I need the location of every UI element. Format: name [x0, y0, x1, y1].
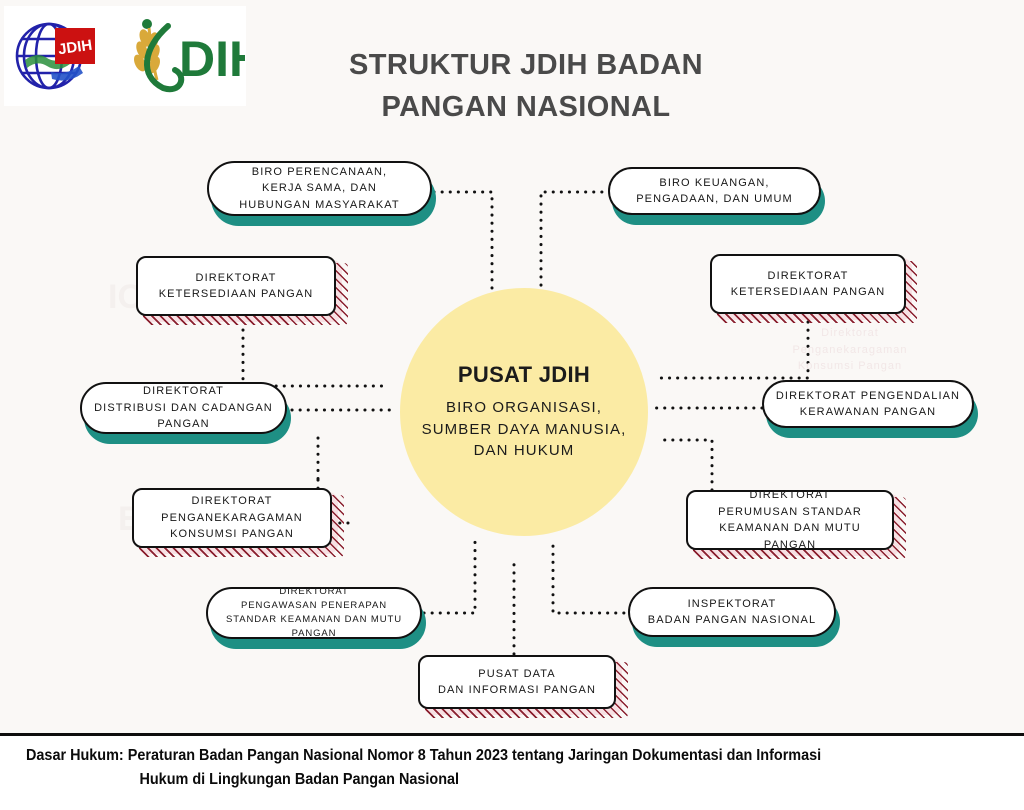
hub-subtitle-line1: BIRO ORGANISASI, [422, 397, 627, 419]
node-direktorat-ketersediaan-pangan-kanan[interactable]: DIREKTORAT KETERSEDIAAN PANGAN [710, 254, 906, 314]
node-pusat-data-informasi-pangan-label: PUSAT DATA DAN INFORMASI PANGAN [431, 666, 603, 699]
node-direktorat-perumusan-standar-keamanan-mutu-pangan[interactable]: DIREKTORAT PERUMUSAN STANDAR KEAMANAN DA… [686, 490, 894, 550]
node-direktorat-ketersediaan-pangan-kiri-label: DIREKTORAT KETERSEDIAAN PANGAN [152, 270, 321, 303]
hub-title: PUSAT JDIH [458, 362, 590, 388]
node-biro-keuangan[interactable]: BIRO KEUANGAN, PENGADAAN, DAN UMUM [608, 167, 821, 215]
node-direktorat-pengawasan-penerapan-standar-label: DIREKTORAT PENGAWASAN PENERAPAN STANDAR … [208, 585, 420, 642]
node-inspektorat-badan-pangan-nasional-label: INSPEKTORAT BADAN PANGAN NASIONAL [641, 596, 823, 629]
jdih-logo: JDIH DIH [4, 6, 246, 106]
jdih-badge: JDIH [55, 28, 95, 64]
node-direktorat-distribusi-cadangan-pangan-label: DIREKTORAT DISTRIBUSI DAN CADANGAN PANGA… [87, 383, 280, 433]
node-direktorat-perumusan-standar-keamanan-mutu-pangan-label: DIREKTORAT PERUMUSAN STANDAR KEAMANAN DA… [688, 487, 892, 553]
page-title-line1: STRUKTUR JDIH BADAN [300, 44, 752, 86]
node-direktorat-ketersediaan-pangan-kiri[interactable]: DIREKTORAT KETERSEDIAAN PANGAN [136, 256, 336, 316]
footer-label: Dasar Hukum: [26, 744, 124, 768]
wheat-wordmark-icon: DIH [123, 14, 245, 98]
hub-pusat-jdih: PUSAT JDIH BIRO ORGANISASI, SUMBER DAYA … [400, 288, 648, 536]
page-title-line2: PANGAN NASIONAL [300, 86, 752, 128]
page-title: STRUKTUR JDIH BADAN PANGAN NASIONAL [300, 44, 752, 128]
node-direktorat-distribusi-cadangan-pangan[interactable]: DIREKTORAT DISTRIBUSI DAN CADANGAN PANGA… [80, 382, 287, 434]
globe-icon: JDIH [5, 14, 117, 98]
footer-line2: Hukum di Lingkungan Badan Pangan Nasiona… [139, 768, 918, 792]
footer-line1: Peraturan Badan Pangan Nasional Nomor 8 … [128, 747, 821, 764]
footer: Dasar Hukum: Peraturan Badan Pangan Nasi… [0, 736, 1024, 810]
node-direktorat-penganekaragaman-konsumsi-pangan-label: DIREKTORAT PENGANEKARAGAMAN KONSUMSI PAN… [154, 493, 310, 543]
node-biro-perencanaan[interactable]: BIRO PERENCANAAN, KERJA SAMA, DAN HUBUNG… [207, 161, 432, 216]
hub-subtitle: BIRO ORGANISASI, SUMBER DAYA MANUSIA, DA… [422, 397, 627, 462]
node-direktorat-pengawasan-penerapan-standar[interactable]: DIREKTORAT PENGAWASAN PENERAPAN STANDAR … [206, 587, 422, 639]
node-biro-keuangan-label: BIRO KEUANGAN, PENGADAAN, DAN UMUM [629, 175, 800, 208]
node-biro-perencanaan-label: BIRO PERENCANAAN, KERJA SAMA, DAN HUBUNG… [232, 164, 406, 214]
hub-subtitle-line2: SUMBER DAYA MANUSIA, [422, 419, 627, 441]
node-direktorat-pengendalian-kerawanan-pangan[interactable]: DIREKTORAT PENGENDALIAN KERAWANAN PANGAN [762, 380, 974, 428]
hub-subtitle-line3: DAN HUKUM [422, 440, 627, 462]
node-inspektorat-badan-pangan-nasional[interactable]: INSPEKTORAT BADAN PANGAN NASIONAL [628, 587, 836, 637]
svg-text:DIH: DIH [179, 31, 245, 87]
node-direktorat-ketersediaan-pangan-kanan-label: DIREKTORAT KETERSEDIAAN PANGAN [724, 268, 893, 301]
node-direktorat-pengendalian-kerawanan-pangan-label: DIREKTORAT PENGENDALIAN KERAWANAN PANGAN [769, 388, 967, 421]
node-direktorat-penganekaragaman-konsumsi-pangan[interactable]: DIREKTORAT PENGANEKARAGAMAN KONSUMSI PAN… [132, 488, 332, 548]
node-pusat-data-informasi-pangan[interactable]: PUSAT DATA DAN INFORMASI PANGAN [418, 655, 616, 709]
